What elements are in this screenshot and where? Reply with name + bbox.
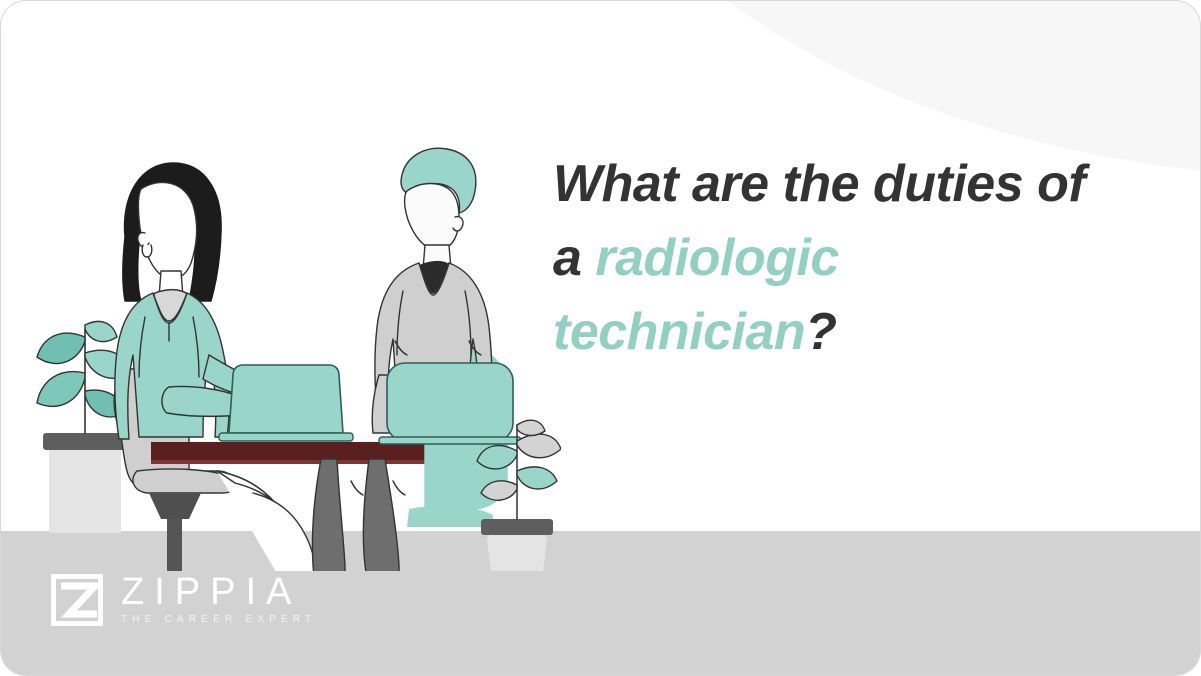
zippia-logo[interactable]: ZIPPIA THE CAREER EXPERT bbox=[51, 573, 316, 626]
headline-line-2: a radiologic bbox=[553, 221, 1153, 295]
logo-name: ZIPPIA bbox=[121, 573, 316, 611]
logo-wordmark: ZIPPIA THE CAREER EXPERT bbox=[121, 573, 316, 626]
man-laptop bbox=[379, 363, 521, 444]
headline-line-3: technician? bbox=[553, 295, 1153, 369]
headline-accent-radiologic: radiologic bbox=[595, 229, 838, 287]
logo-tagline: THE CAREER EXPERT bbox=[121, 614, 316, 626]
headline-accent-technician: technician bbox=[553, 303, 805, 361]
headline-line-1: What are the duties of bbox=[553, 147, 1153, 221]
zippia-z-mark bbox=[51, 574, 103, 626]
headline-line-2-prefix: a bbox=[553, 229, 595, 287]
woman-laptop bbox=[219, 365, 353, 441]
headline-question-mark: ? bbox=[805, 303, 836, 361]
page-title: What are the duties of a radiologic tech… bbox=[553, 147, 1153, 369]
promo-card: What are the duties of a radiologic tech… bbox=[0, 0, 1201, 676]
illustration bbox=[21, 141, 561, 571]
woman-legs bbox=[217, 471, 327, 571]
headline-line-1-text: What are the duties of bbox=[553, 155, 1085, 213]
